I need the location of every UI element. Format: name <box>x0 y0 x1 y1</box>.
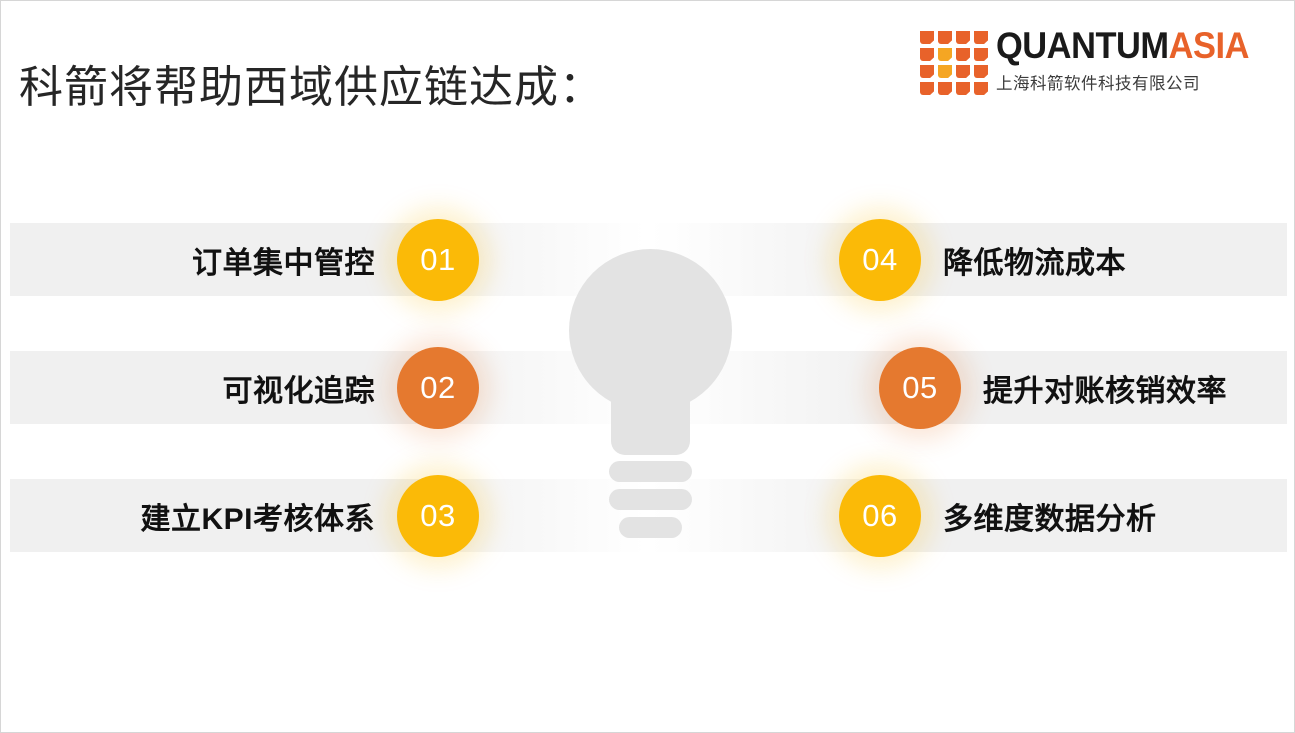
benefit-item-03[interactable]: 建立KPI考核体系 03 <box>140 468 479 564</box>
benefit-label: 降低物流成本 <box>943 238 1126 282</box>
lightbulb-base-ring <box>619 517 682 538</box>
benefit-number-badge: 04 <box>839 219 921 301</box>
benefit-item-05[interactable]: 05 提升对账核销效率 <box>879 340 1227 436</box>
benefit-label: 建立KPI考核体系 <box>140 494 375 538</box>
benefit-number-badge: 03 <box>397 475 479 557</box>
benefit-item-02[interactable]: 可视化追踪 02 <box>223 340 480 436</box>
benefit-label: 多维度数据分析 <box>943 494 1157 538</box>
slide-canvas: 科箭将帮助西域供应链达成： QUANTUMASIA 上海科箭软件科技有限公司 <box>0 0 1295 733</box>
benefit-number-badge: 06 <box>839 475 921 557</box>
benefit-number-badge: 02 <box>397 347 479 429</box>
lightbulb-base-ring <box>609 461 692 482</box>
benefit-label: 提升对账核销效率 <box>983 366 1227 410</box>
benefit-item-01[interactable]: 订单集中管控 01 <box>192 212 479 308</box>
lightbulb-base-ring <box>609 489 692 510</box>
benefit-item-04[interactable]: 04 降低物流成本 <box>839 212 1126 308</box>
benefit-number-badge: 01 <box>397 219 479 301</box>
benefit-label: 订单集中管控 <box>192 238 375 282</box>
lightbulb-icon <box>569 249 732 519</box>
benefit-number-badge: 05 <box>879 347 961 429</box>
benefit-label: 可视化追踪 <box>223 366 376 410</box>
lightbulb-neck <box>611 377 690 455</box>
benefit-item-06[interactable]: 06 多维度数据分析 <box>839 468 1157 564</box>
